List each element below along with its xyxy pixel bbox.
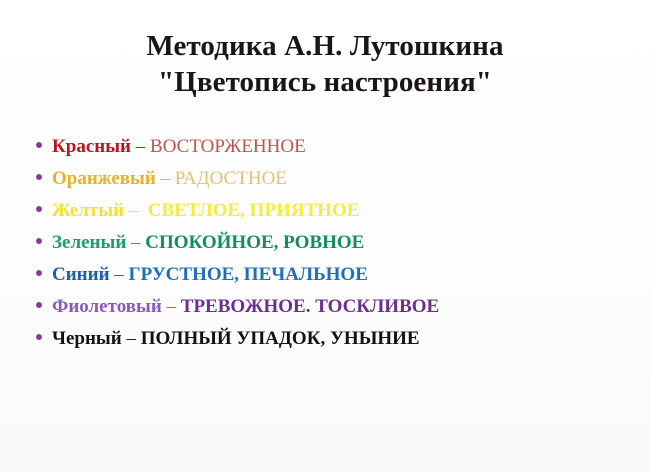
list-item: Красный – ВОСТОРЖЕННОЕ [36, 136, 640, 168]
color-label: Оранжевый [52, 168, 156, 190]
separator: – [162, 296, 181, 318]
color-label: Красный [52, 136, 131, 158]
mood-label: ПОЛНЫЙ УПАДОК, УНЫНИЕ [141, 328, 420, 350]
color-label: Зеленый [52, 232, 126, 254]
slide-title: Методика А.Н. Лутошкина "Цветопись настр… [0, 28, 650, 100]
bullet-dot-icon [36, 199, 52, 217]
mood-label: ГРУСТНОЕ, ПЕЧАЛЬНОЕ [129, 264, 368, 286]
slide-canvas: Методика А.Н. Лутошкина "Цветопись настр… [0, 0, 650, 472]
bullet-dot-icon [36, 231, 52, 249]
title-line-2: "Цветопись настроения" [0, 64, 650, 100]
bullet-dot-icon [36, 167, 52, 185]
list-item: Фиолетовый – ТРЕВОЖНОЕ. ТОСКЛИВОЕ [36, 296, 640, 328]
separator: – [126, 232, 145, 254]
color-label: Синий [52, 264, 110, 286]
list-item: Желтый – СВЕТЛОЕ, ПРИЯТНОЕ [36, 200, 640, 232]
color-label: Фиолетовый [52, 296, 162, 318]
color-mood-list: Красный – ВОСТОРЖЕННОЕ Оранжевый – РАДОС… [36, 136, 640, 360]
bullet-dot-icon [36, 327, 52, 345]
list-item: Черный – ПОЛНЫЙ УПАДОК, УНЫНИЕ [36, 328, 640, 360]
separator: – [122, 328, 141, 350]
mood-label: СВЕТЛОЕ, ПРИЯТНОЕ [148, 200, 360, 222]
separator: – [110, 264, 129, 286]
list-item: Зеленый – СПОКОЙНОЕ, РОВНОЕ [36, 232, 640, 264]
bullet-dot-icon [36, 135, 52, 153]
color-label: Желтый [52, 200, 124, 222]
list-item: Оранжевый – РАДОСТНОЕ [36, 168, 640, 200]
title-line-1: Методика А.Н. Лутошкина [0, 28, 650, 64]
list-item: Синий – ГРУСТНОЕ, ПЕЧАЛЬНОЕ [36, 264, 640, 296]
bullet-dot-icon [36, 295, 52, 313]
separator: – [156, 168, 175, 190]
bullet-dot-icon [36, 263, 52, 281]
mood-label: СПОКОЙНОЕ, РОВНОЕ [145, 232, 364, 254]
mood-label: РАДОСТНОЕ [175, 168, 287, 190]
mood-label: ВОСТОРЖЕННОЕ [150, 136, 306, 158]
mood-label: ТРЕВОЖНОЕ. ТОСКЛИВОЕ [181, 296, 439, 318]
separator: – [131, 136, 150, 158]
color-label: Черный [52, 328, 122, 350]
separator: – [124, 200, 148, 222]
